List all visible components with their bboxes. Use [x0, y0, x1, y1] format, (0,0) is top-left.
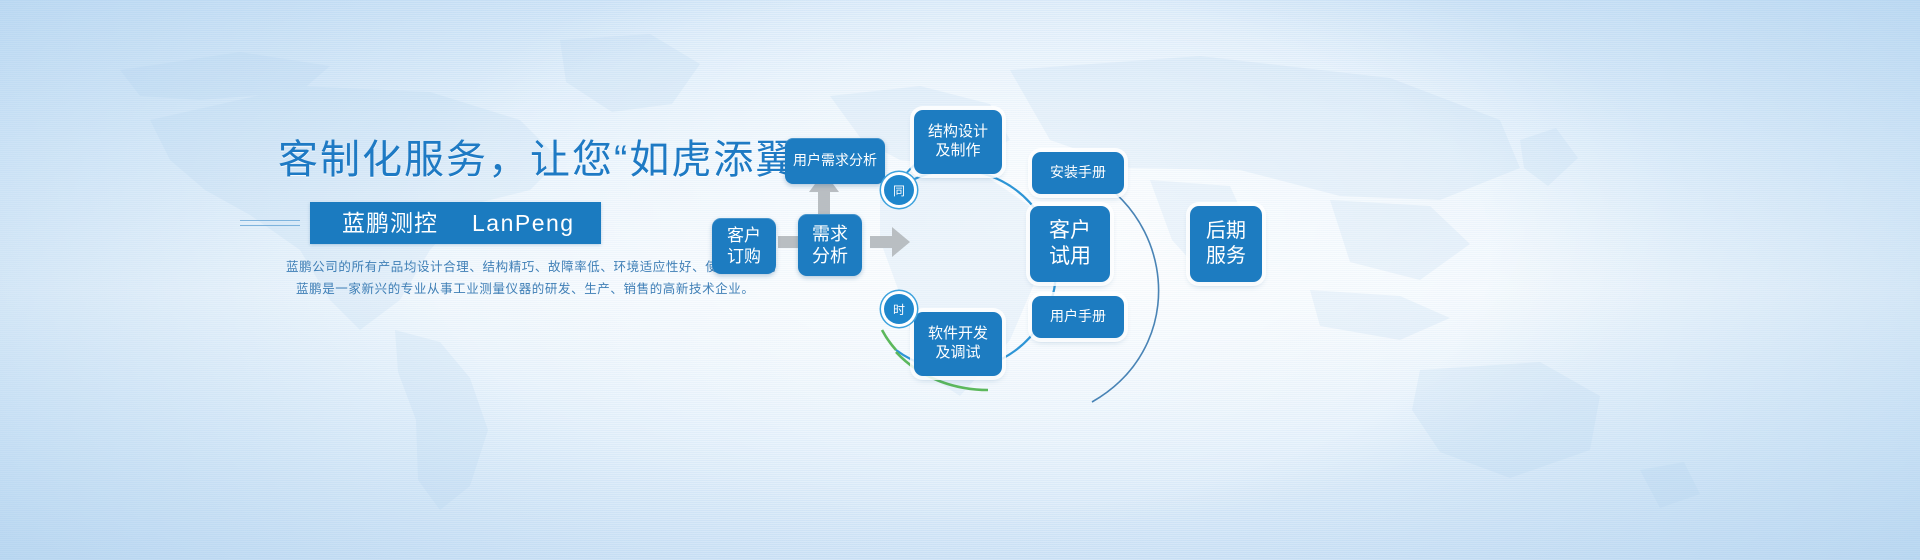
flow-node-customer-trial[interactable]: 客户 试用 [1030, 206, 1110, 282]
brand-name-cn: 蓝鹏测控 [342, 210, 438, 236]
badge-shi-icon: 时 [884, 294, 914, 324]
flow-node-user-manual[interactable]: 用户手册 [1032, 296, 1124, 338]
brand-band-inner: 蓝鹏测控LanPeng [310, 202, 601, 244]
flow-node-demand-analysis[interactable]: 需求 分析 [798, 214, 862, 276]
badge-tong-icon: 同 [884, 175, 914, 205]
decorative-lines [240, 216, 300, 230]
brand-band: 蓝鹏测控LanPeng [240, 202, 601, 244]
flow-node-customer-order[interactable]: 客户 订购 [712, 218, 776, 274]
flow-node-structure-design[interactable]: 结构设计 及制作 [914, 110, 1002, 174]
flow-node-user-demand-analysis[interactable]: 用户需求分析 [785, 138, 885, 184]
subtitle-line-2: 蓝鹏是一家新兴的专业从事工业测量仪器的研发、生产、销售的高新技术企业。 [296, 278, 755, 297]
flow-node-software-dev[interactable]: 软件开发 及调试 [914, 312, 1002, 376]
brand-name-en: LanPeng [472, 210, 575, 236]
flow-node-install-manual[interactable]: 安装手册 [1032, 152, 1124, 194]
flow-node-after-service[interactable]: 后期 服务 [1190, 206, 1262, 282]
banner-stage: 客制化服务，让您“如虎添翼” 蓝鹏测控LanPeng 蓝鹏公司的所有产品均设计合… [0, 0, 1920, 560]
